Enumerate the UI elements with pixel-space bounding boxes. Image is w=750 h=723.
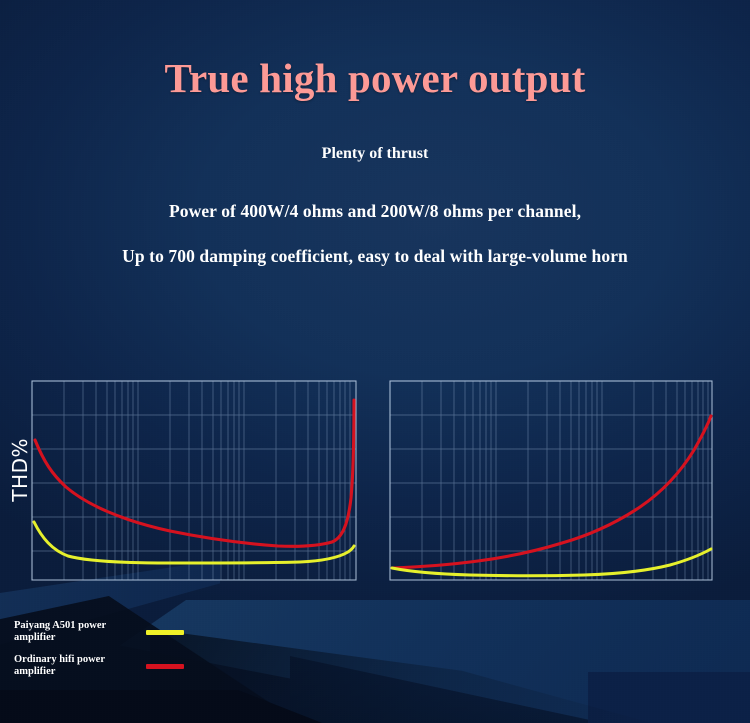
legend-swatch-ordinary xyxy=(146,664,184,669)
legend-label-paiyang: Paiyang A501 power amplifier xyxy=(14,620,132,644)
legend-item-paiyang: Paiyang A501 power amplifier xyxy=(14,620,224,644)
page-title: True high power output xyxy=(0,54,750,102)
background-decoration xyxy=(0,0,750,723)
chart-1-y-axis-label: THD% xyxy=(8,438,32,502)
chart-thd-vs-frequency: Frequency xyxy=(378,370,750,610)
chart-thd-vs-power: Power xyxy=(0,370,370,610)
spec-line-damping: Up to 700 damping coefficient, easy to d… xyxy=(0,246,750,267)
promo-slide: True high power output Plenty of thrust … xyxy=(0,0,750,723)
podium-front-facet xyxy=(290,628,590,723)
legend-swatch-paiyang xyxy=(146,630,184,635)
legend-item-ordinary: Ordinary hifi power amplifier xyxy=(14,654,224,678)
chart-thd-vs-power-canvas xyxy=(0,370,370,610)
chart-1-gridlines xyxy=(32,381,356,580)
background-grain-texture xyxy=(0,0,750,723)
page-subtitle: Plenty of thrust xyxy=(0,145,750,163)
chart-2-series-ordinary xyxy=(392,416,711,568)
spec-line-power: Power of 400W/4 ohms and 200W/8 ohms per… xyxy=(0,201,750,222)
legend-label-ordinary: Ordinary hifi power amplifier xyxy=(14,654,132,678)
background-shadow-bottom xyxy=(0,690,340,723)
chart-thd-vs-frequency-canvas xyxy=(378,370,750,610)
chart-2-gridlines xyxy=(390,381,712,580)
chart-legend: Paiyang A501 power amplifier Ordinary hi… xyxy=(14,620,224,688)
podium-right-facet xyxy=(588,672,750,723)
podium-shadow-band xyxy=(150,618,670,723)
chart-1-plot-frame xyxy=(32,381,356,580)
chart-2-plot-frame xyxy=(390,381,712,580)
chart-1-series-paiyang xyxy=(34,522,354,563)
chart-2-series-paiyang xyxy=(392,549,711,576)
